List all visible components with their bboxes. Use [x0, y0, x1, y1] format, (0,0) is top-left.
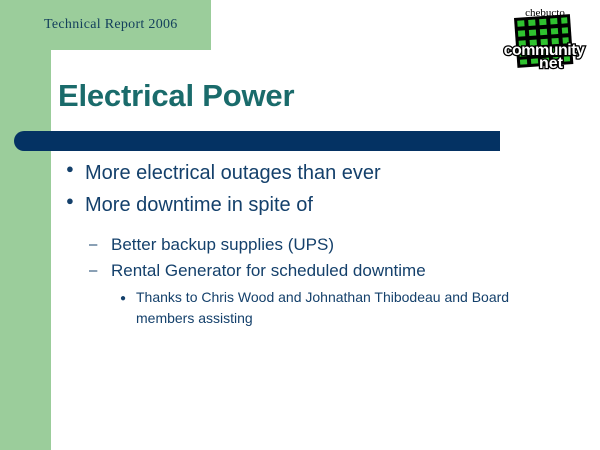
bullet-marker-icon: ●	[120, 290, 126, 308]
bullet-level1-item: ● More downtime in spite of	[0, 190, 600, 220]
slide-body-content: ● More electrical outages than ever ● Mo…	[0, 158, 600, 329]
presentation-slide: Technical Report 2006 chebucto	[0, 0, 600, 450]
bullet-level2-item: – Better backup supplies (UPS)	[0, 232, 600, 258]
bullet-level2-label: Rental Generator for scheduled downtime	[111, 258, 580, 284]
logo-graphic: chebucto	[496, 2, 594, 72]
dash-marker-icon: –	[89, 260, 97, 282]
report-label: Technical Report 2006	[44, 17, 178, 33]
bullet-level3-item: ● Thanks to Chris Wood and Johnathan Thi…	[0, 287, 600, 329]
bullet-level2-label: Better backup supplies (UPS)	[111, 232, 580, 258]
bullet-level2-item: – Rental Generator for scheduled downtim…	[0, 258, 600, 284]
logo-word-net: net	[539, 55, 564, 72]
bullet-marker-icon: ●	[66, 162, 74, 175]
bullet-level1-label: More downtime in spite of	[85, 190, 580, 220]
page-title: Electrical Power	[58, 78, 294, 114]
bullet-level1-item: ● More electrical outages than ever	[0, 158, 600, 188]
title-underline-bar-decoration	[14, 131, 500, 151]
dash-marker-icon: –	[89, 234, 97, 256]
list-spacer	[0, 222, 600, 232]
bullet-level1-label: More electrical outages than ever	[85, 158, 580, 188]
bullet-level3-label: Thanks to Chris Wood and Johnathan Thibo…	[136, 287, 545, 329]
chebucto-community-net-logo: chebucto	[496, 2, 594, 72]
bullet-marker-icon: ●	[66, 194, 74, 207]
